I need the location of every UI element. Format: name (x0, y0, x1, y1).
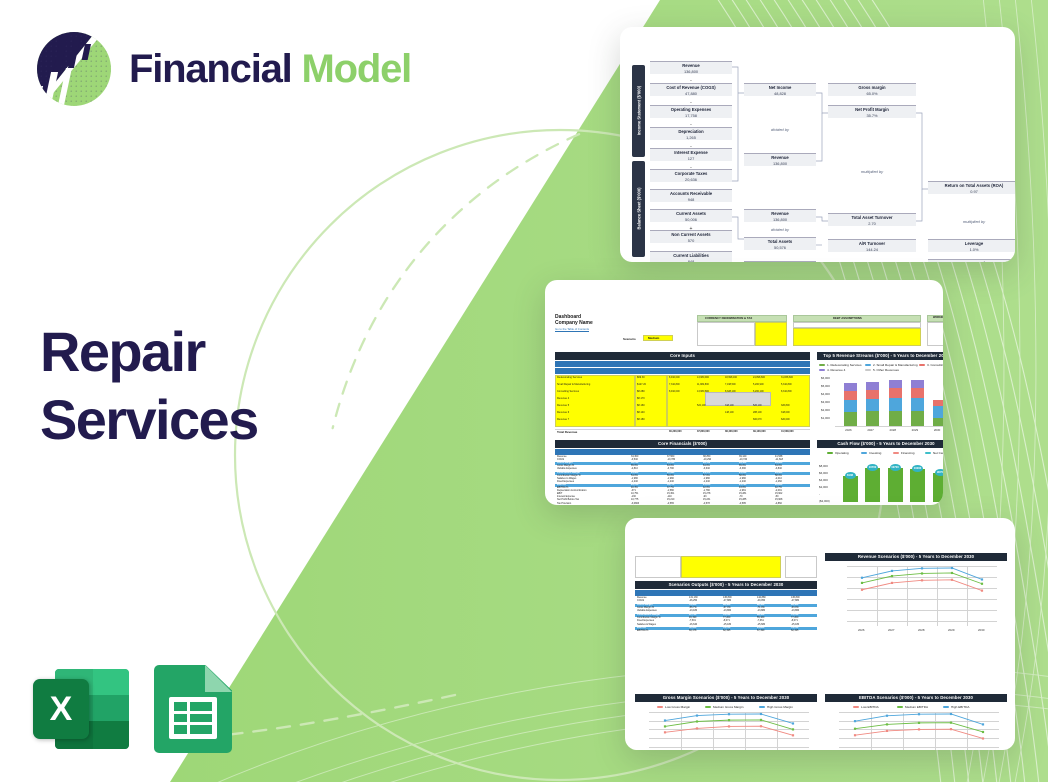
table-core-financials: Revenue34,30037,56038,25039,12041,538COG… (555, 456, 810, 505)
bar-segment (866, 399, 879, 411)
x-tick: 2026 (858, 628, 864, 632)
core-inputs-sub-headers (555, 368, 810, 374)
operating-bar (865, 468, 880, 502)
bar-segment (844, 383, 857, 391)
core-input-forecast-value: 7,310,800 (669, 384, 680, 386)
core-financials-col-headers (555, 449, 810, 455)
row-value: 60,178 (689, 630, 696, 632)
table-row: EBITDA %60,17862,19567,19062,195 (635, 630, 817, 633)
core-input-forecast-value: 318,000 (781, 412, 790, 414)
panel-title-gross-margin-scenarios: Gross Margin Scenarios ($'000) - 5 Years… (635, 694, 817, 702)
bar-segment (866, 411, 879, 426)
node-return-on-total-assets: Return on Total Assets (ROA)0.97 (928, 181, 1015, 194)
bar-segment (844, 412, 857, 426)
y-tick: $2,000 (819, 485, 828, 489)
x-tick: 2026 (845, 428, 851, 432)
core-input-forecast-value: 8,910,000 (669, 377, 680, 379)
core-input-forecast-value: 11,982,800 (697, 384, 709, 386)
core-input-growth: $69.30 (637, 377, 645, 380)
sheets-table-glyph (169, 697, 217, 739)
core-input-forecast-value: 13,680,800 (697, 391, 709, 393)
chart-revenue-scenarios: 20262027202820292030 (847, 566, 997, 626)
node-depreciation: Depreciation1,265 (650, 127, 732, 140)
core-input-row-label: Small Repair & Manufacturing (557, 384, 590, 387)
bar-segment (889, 380, 902, 388)
financial-model-circle-logo (35, 30, 113, 108)
format-icons: X (33, 665, 232, 753)
operating-bar (843, 476, 858, 502)
node-interest-expense: Interest Expense127 (650, 148, 732, 161)
core-input-row-label: Revenue 5 (557, 405, 569, 408)
bar-segment (933, 418, 943, 426)
node-revenue: Revenue136,800 (650, 61, 732, 74)
core-input-forecast-value: 7,198,500 (725, 384, 736, 386)
dupont-tree: Income Statement ($'000) Balance Sheet (… (632, 57, 1007, 248)
row-label: EBITDA % (637, 630, 648, 632)
dashboard-toc-link[interactable]: Go to the Table of Contents (555, 328, 589, 331)
x-tick: 2029 (912, 428, 918, 432)
node-accounts-receivable: Accounts Receivable948 (650, 189, 732, 202)
chart-top5-revenue-streams: 20262027202820292030$6,000$5,000$4,000$3… (835, 376, 943, 426)
net-cash-pill: 10700 (890, 464, 901, 471)
core-input-total-value: 41,538,000 (781, 431, 794, 434)
bar-segment (911, 398, 924, 411)
node-operating-expenses: Operating Expenses17,758 (650, 105, 732, 118)
node-total-liabilities: Total Liabilities949 (744, 261, 816, 262)
x-tick: 2029 (948, 628, 954, 632)
row-value: 62,195 (723, 630, 730, 632)
core-input-row-label: Consulting Services (557, 391, 579, 394)
node-total-asset-turnover: Total Asset Turnover2.70 (828, 213, 916, 226)
bar-segment (866, 390, 879, 400)
core-input-row-label: Revenue 4 (557, 398, 569, 401)
node-revenue-3: Revenue136,800 (744, 209, 816, 222)
x-tick: 2030 (978, 628, 984, 632)
x-tick: 2027 (867, 428, 873, 432)
x-tick: 2030 (934, 428, 940, 432)
scenarios-col-headers (635, 590, 817, 596)
core-input-row-label: Revenue 6 (557, 412, 569, 415)
chart-ebitda-scenarios-plot: 20262027202820292030 (839, 712, 999, 750)
y-tick: $6,000 (819, 471, 828, 475)
core-input-forecast-value: 31,838,600 (781, 377, 793, 379)
node-ar-turnover: A/R Turnover144.24 (828, 239, 916, 252)
scenario-label: Scenario (623, 338, 636, 341)
bar-segment (889, 398, 902, 411)
node-leverage: Leverage1.0% (928, 239, 1015, 252)
page-title-line2: Services (40, 386, 258, 454)
node-corporate-taxes: Corporate Taxes20,636 (650, 169, 732, 182)
core-input-growth: $8.280 (637, 391, 645, 394)
bar-segment (911, 388, 924, 398)
core-input-total-value: 30,200,000 (669, 431, 682, 434)
scenario-value: Medium (648, 337, 659, 340)
brand-word-model: Model (302, 47, 412, 91)
page-title-line1: Repair (40, 318, 258, 386)
core-input-growth: $127.20 (637, 384, 646, 387)
y-tick: $6,000 (821, 376, 830, 380)
scenario-assumption-labels (635, 556, 681, 578)
band-income-statement: Income Statement ($'000) (632, 65, 645, 157)
bar-segment (889, 388, 902, 398)
dashboard-title-line2: Company Name (555, 321, 593, 326)
brand-word-financial: Financial (129, 47, 292, 91)
y-tick: $4,000 (821, 392, 830, 396)
node-total-assets: Total Assets50,576 (744, 237, 816, 250)
x-tick: 2027 (888, 628, 894, 632)
excel-x-glyph: X (33, 679, 89, 739)
google-sheets-icon[interactable] (154, 665, 232, 753)
net-cash-pill: 10700 (867, 464, 878, 471)
bar-segment (866, 382, 879, 390)
bar-segment (933, 400, 943, 406)
brand-wordmark: Financial Model (129, 47, 411, 92)
bar-segment (911, 411, 924, 426)
debt-values[interactable] (793, 328, 921, 346)
scenario-active-values (785, 556, 817, 578)
core-input-growth: $8.140 (637, 412, 645, 415)
scenarios-card[interactable]: Scenarios Outputs ($'000) - 5 Years to D… (625, 518, 1015, 750)
y-tick: $1,000 (821, 416, 830, 420)
microsoft-excel-icon[interactable]: X (33, 665, 129, 753)
core-input-forecast-value: 288,100 (753, 412, 762, 414)
core-input-forecast-value: 8,910,000 (669, 391, 680, 393)
y-tick: $4,000 (819, 478, 828, 482)
panel-title-scenarios-outputs: Scenarios Outputs ($'000) - 5 Years to D… (635, 581, 817, 589)
core-input-growth: $8.170 (637, 398, 645, 401)
y-tick: ($2,000) (819, 499, 830, 503)
panel-title-ebitda-scenarios: EBITDA Scenarios ($'000) - 5 Years to De… (825, 694, 1007, 702)
core-input-forecast-value: 8,328,100 (725, 391, 736, 393)
panel-title-top5-revenue: Top 5 Revenue Streams ($'000) - 5 Years … (817, 352, 943, 360)
node-net-profit-margin: Net Profit Margin35.7% (828, 105, 916, 118)
bar-segment (844, 391, 857, 400)
page-title: Repair Services (40, 318, 258, 455)
core-inputs-col-headers (555, 361, 810, 367)
series-line (839, 712, 999, 750)
row-value: 67,190 (757, 630, 764, 632)
panel-title-core-financials: Core Financials ($'000) (555, 440, 810, 448)
core-input-forecast-value: 5,310,800 (781, 384, 792, 386)
scenario-assumption-values[interactable] (681, 556, 781, 578)
y-tick: $5,000 (821, 384, 830, 388)
core-input-row-label: Redecorating Services (557, 377, 582, 380)
y-tick: $3,000 (821, 400, 830, 404)
brand-logo: Financial Model (35, 30, 411, 108)
currency-values[interactable] (755, 322, 787, 346)
table-scenarios-outputs: Revenue131,130136,800142,880136,800COGS-… (635, 597, 817, 637)
core-input-growth: $8.180 (637, 419, 645, 422)
band-balance-sheet: Balance Sheet ($'000) (632, 161, 645, 257)
y-tick: $8,000 (819, 464, 828, 468)
core-input-row-label: Revenue 7 (557, 419, 569, 422)
y-tick: $2,000 (821, 408, 830, 412)
bar-segment (889, 411, 902, 426)
core-input-forecast-value: 620,000 (781, 419, 790, 421)
chart-gross-margin-scenarios-plot: 20262027202820292030 (649, 712, 809, 750)
core-input-forecast-value: 13,680,900 (697, 377, 709, 379)
core-input-forecast-value: 18,998,190 (725, 377, 737, 379)
left-content-panel: Financial Model Repair Services X (0, 0, 470, 782)
x-tick: 2028 (890, 428, 896, 432)
core-input-forecast-value: 24,898,600 (753, 377, 765, 379)
node-cogs: Cost of Revenue (COGS)47,880 (650, 83, 732, 96)
y-tick: - (819, 492, 820, 496)
node-revenue-2: Revenue136,800 (744, 153, 816, 166)
core-input-total-value: 39,100,000 (753, 431, 766, 434)
node-gross-margin: Gross margin65.0% (828, 83, 916, 96)
operating-bar (933, 473, 944, 502)
core-input-forecast-value: 318,100 (725, 405, 734, 407)
core-input-forecast-value: 5,200,900 (753, 384, 764, 386)
core-input-total-value: 38,400,000 (725, 431, 738, 434)
net-cash-pill: 8108 (845, 472, 856, 479)
chart-cash-flow: 8108202610700202710700202810290202990702… (835, 464, 943, 505)
core-input-forecast-value: 526,100 (753, 405, 762, 407)
operating-bar (910, 469, 925, 502)
node-non-current-assets: Non Current Assets570 (650, 230, 732, 243)
series-line (649, 712, 809, 750)
core-input-forecast-value: 326,800 (781, 405, 790, 407)
node-current-liabilities: Current Liabilities848 (650, 251, 732, 262)
bar-segment (844, 400, 857, 412)
core-input-forecast-value: 600,070 (753, 419, 762, 421)
x-tick: 2028 (918, 628, 924, 632)
panel-title-core-inputs: Core Inputs (555, 352, 810, 360)
core-input-forecast-value: 148,100 (725, 412, 734, 414)
panel-title-cash-flow: Cash Flow ($'000) - 5 Years to December … (817, 440, 943, 448)
core-input-forecast-value: 8,310,800 (781, 391, 792, 393)
node-net-income: Net Income48,828 (744, 83, 816, 96)
core-input-total-value: 37,800,000 (697, 431, 710, 434)
node-current-assets: Current Assets50,006 (650, 209, 732, 222)
node-current-ratio: Current Ratio58.98 (928, 259, 1015, 262)
core-input-forecast-value: 6,200,100 (753, 391, 764, 393)
operating-bar (888, 468, 903, 502)
bar-segment (911, 380, 924, 388)
dupont-analysis-card[interactable]: Income Statement ($'000) Balance Sheet (… (620, 27, 1015, 262)
series-line (847, 566, 997, 626)
dashboard-card[interactable]: Dashboard Company Name Go to the Table o… (545, 280, 943, 505)
core-input-growth: $8.160 (637, 405, 645, 408)
row-value: 62,195 (791, 630, 798, 632)
bar-segment (933, 406, 943, 419)
core-input-forecast-value: 522,100 (697, 405, 706, 407)
panel-title-revenue-scenarios: Revenue Scenarios ($'000) - 5 Years to D… (825, 553, 1007, 561)
